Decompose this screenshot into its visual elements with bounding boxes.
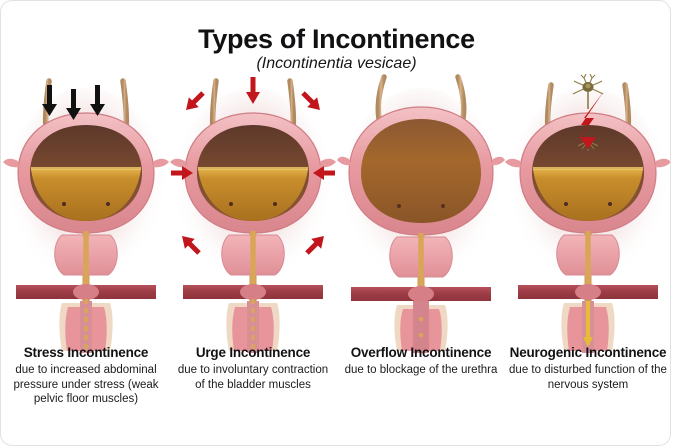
ureteral-orifice-right xyxy=(441,204,445,208)
panel-overflow-incontinence xyxy=(337,63,505,353)
caption-description: due to involuntary contraction of the bl… xyxy=(169,363,337,392)
ureteral-orifice-left xyxy=(229,202,233,206)
urethral-sphincter xyxy=(408,286,434,302)
caption-description: due to disturbed function of the nervous… xyxy=(504,363,671,392)
caption-row: Stress Incontinence due to increased abd… xyxy=(1,345,671,445)
caption-title: Overflow Incontinence xyxy=(337,345,505,361)
urine-droplet-2 xyxy=(419,333,424,338)
ureteral-orifice-right xyxy=(608,202,612,206)
caption-overflow-incontinence: Overflow Incontinence due to blockage of… xyxy=(337,345,505,378)
ureteral-orifice-left xyxy=(62,202,66,206)
bladder-diagram-neurogenic xyxy=(504,63,671,353)
panel-neurogenic-incontinence xyxy=(504,63,671,353)
bladder-diagram-urge xyxy=(169,63,337,353)
ureteral-orifice-left xyxy=(564,202,568,206)
panel-row xyxy=(1,63,671,353)
urine-surface-line xyxy=(198,167,308,170)
urine-droplet-1 xyxy=(419,317,424,322)
urethral-sphincter xyxy=(575,284,601,300)
urethral-sphincter xyxy=(240,284,266,300)
ureteral-orifice-right xyxy=(106,202,110,206)
ureteral-orifice-right xyxy=(273,202,277,206)
bladder-lumen-full xyxy=(361,119,481,223)
bladder-diagram-stress xyxy=(2,63,170,353)
caption-description: due to blockage of the urethra xyxy=(337,363,505,378)
incontinence-figure: Types of Incontinence (Incontinentia ves… xyxy=(0,0,671,446)
caption-description: due to increased abdominal pressure unde… xyxy=(2,363,170,407)
ureteral-orifice-left xyxy=(397,204,401,208)
urine-surface-line xyxy=(533,167,643,170)
caption-urge-incontinence: Urge Incontinence due to involuntary con… xyxy=(169,345,337,392)
caption-neurogenic-incontinence: Neurogenic Incontinence due to disturbed… xyxy=(504,345,671,392)
urethral-sphincter xyxy=(73,284,99,300)
caption-title: Stress Incontinence xyxy=(2,345,170,361)
panel-urge-incontinence xyxy=(169,63,337,353)
caption-title: Neurogenic Incontinence xyxy=(504,345,671,361)
caption-title: Urge Incontinence xyxy=(169,345,337,361)
caption-stress-incontinence: Stress Incontinence due to increased abd… xyxy=(2,345,170,407)
panel-stress-incontinence xyxy=(2,63,170,353)
bladder-diagram-overflow xyxy=(337,63,505,353)
neuron-nucleus xyxy=(585,84,590,89)
urine-surface-line xyxy=(31,167,141,170)
page-title: Types of Incontinence xyxy=(1,25,671,53)
